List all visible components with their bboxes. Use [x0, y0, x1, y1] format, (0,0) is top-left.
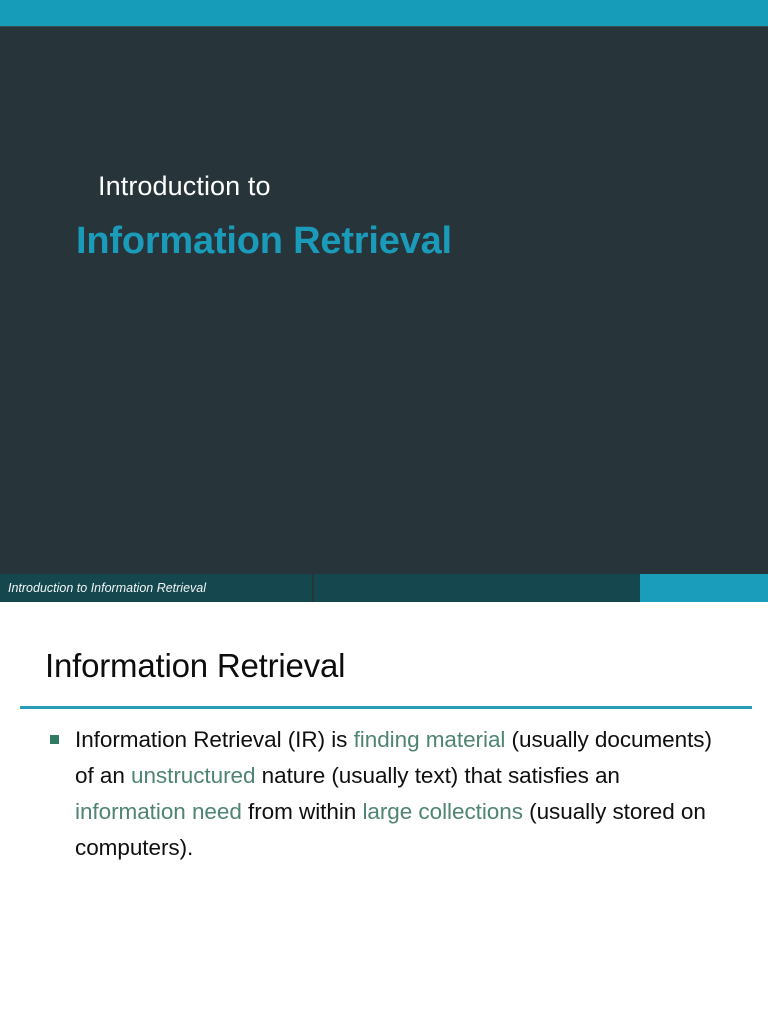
page-title: Information Retrieval: [45, 644, 345, 688]
list-item-text: Information Retrieval (IR) is finding ma…: [75, 727, 712, 860]
body-text-run: nature (usually text) that satisfies an: [255, 763, 619, 788]
square-bullet-icon: [50, 735, 59, 744]
heading-divider: [20, 706, 752, 709]
highlighted-phrase: large collections: [362, 799, 523, 824]
highlighted-phrase: unstructured: [131, 763, 255, 788]
title-subtitle-line: Introduction to: [76, 168, 716, 204]
title-block: Introduction to Information Retrieval: [76, 168, 716, 266]
title-slide: Introduction to Information Retrieval In…: [0, 0, 768, 602]
title-main-line: Information Retrieval: [76, 216, 716, 266]
content-slide: Information Retrieval Information Retrie…: [0, 602, 768, 1024]
highlighted-phrase: finding material: [354, 727, 506, 752]
footer-segment-middle: [314, 574, 640, 602]
list-item: Information Retrieval (IR) is finding ma…: [45, 722, 735, 866]
footer-label: Introduction to Information Retrieval: [8, 574, 206, 602]
bullet-list: Information Retrieval (IR) is finding ma…: [45, 722, 735, 866]
slide-footer-band: Introduction to Information Retrieval: [0, 574, 768, 602]
body-text-run: Information Retrieval (IR) is: [75, 727, 354, 752]
body-text-run: from within: [242, 799, 363, 824]
footer-segment-accent: [640, 574, 768, 602]
highlighted-phrase: information need: [75, 799, 242, 824]
top-accent-bar: [0, 0, 768, 27]
